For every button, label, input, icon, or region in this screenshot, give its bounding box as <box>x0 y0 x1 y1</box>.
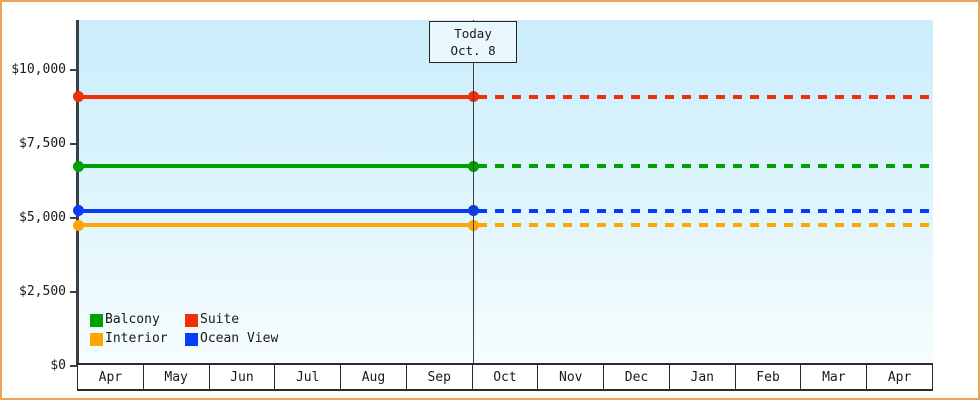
legend-item-label: Ocean View <box>200 332 278 346</box>
x-axis-month-cell[interactable]: Jan <box>669 364 735 390</box>
x-axis-month-cell[interactable]: Dec <box>604 364 670 390</box>
today-label-line1: Today <box>430 25 516 42</box>
x-axis-month-cell[interactable]: Jul <box>275 364 341 390</box>
x-axis-month-table: AprMayJunJulAugSepOctNovDecJanFebMarApr <box>77 363 933 391</box>
y-axis-spine <box>76 20 79 366</box>
legend-swatch-icon <box>90 333 103 346</box>
legend-swatch-icon <box>90 314 103 327</box>
x-axis-month-cell[interactable]: Nov <box>538 364 604 390</box>
legend-item[interactable]: Suite <box>185 313 278 327</box>
legend-item-label: Balcony <box>105 313 160 327</box>
x-axis-month-cell[interactable]: Aug <box>341 364 407 390</box>
y-axis-tick-label: $0 <box>50 359 66 372</box>
series-line-forecast-dashed <box>478 209 933 213</box>
y-axis-tick-label: $7,500 <box>19 137 66 150</box>
today-vertical-line <box>473 20 474 363</box>
legend-item[interactable]: Ocean View <box>185 332 278 346</box>
x-axis-month-cell[interactable]: Jun <box>209 364 275 390</box>
legend-swatch-icon <box>185 314 198 327</box>
series-point-marker[interactable] <box>73 220 84 231</box>
chart-frame: $10,000$7,500$5,000$2,500$0 Today Oct. 8… <box>0 0 980 400</box>
series-line-solid <box>79 223 474 227</box>
y-axis-tick-label: $2,500 <box>19 285 66 298</box>
x-axis-month-cell[interactable]: May <box>143 364 209 390</box>
series-line-forecast-dashed <box>478 164 933 168</box>
today-label-line2: Oct. 8 <box>430 42 516 59</box>
series-line-solid <box>79 95 474 99</box>
x-axis-month-cell[interactable]: Mar <box>801 364 867 390</box>
series-line-forecast-dashed <box>478 95 933 99</box>
x-axis-month-cell[interactable]: Oct <box>472 364 538 390</box>
x-axis-month-cell[interactable]: Apr <box>867 364 933 390</box>
legend-swatch-icon <box>185 333 198 346</box>
legend-item-label: Suite <box>200 313 239 327</box>
y-axis-tick-mark <box>70 143 77 145</box>
legend-item[interactable]: Balcony <box>90 313 185 327</box>
y-axis-tick-mark <box>70 291 77 293</box>
x-axis-month-cell[interactable]: Apr <box>78 364 144 390</box>
x-axis-month-cell[interactable]: Sep <box>406 364 472 390</box>
y-axis-tick-label: $10,000 <box>11 63 66 76</box>
y-axis-tick-label: $5,000 <box>19 211 66 224</box>
legend-item[interactable]: Interior <box>90 332 185 346</box>
chart-legend: BalconySuiteInteriorOcean View <box>90 313 278 346</box>
legend-item-label: Interior <box>105 332 168 346</box>
series-point-marker[interactable] <box>73 161 84 172</box>
y-axis-tick-mark <box>70 217 77 219</box>
x-axis-month-cell[interactable]: Feb <box>735 364 801 390</box>
series-line-solid <box>79 164 474 168</box>
today-label-box: Today Oct. 8 <box>429 21 517 63</box>
series-line-forecast-dashed <box>478 223 933 227</box>
y-axis-tick-mark <box>70 365 77 367</box>
series-line-solid <box>79 209 474 213</box>
y-axis-tick-mark <box>70 69 77 71</box>
